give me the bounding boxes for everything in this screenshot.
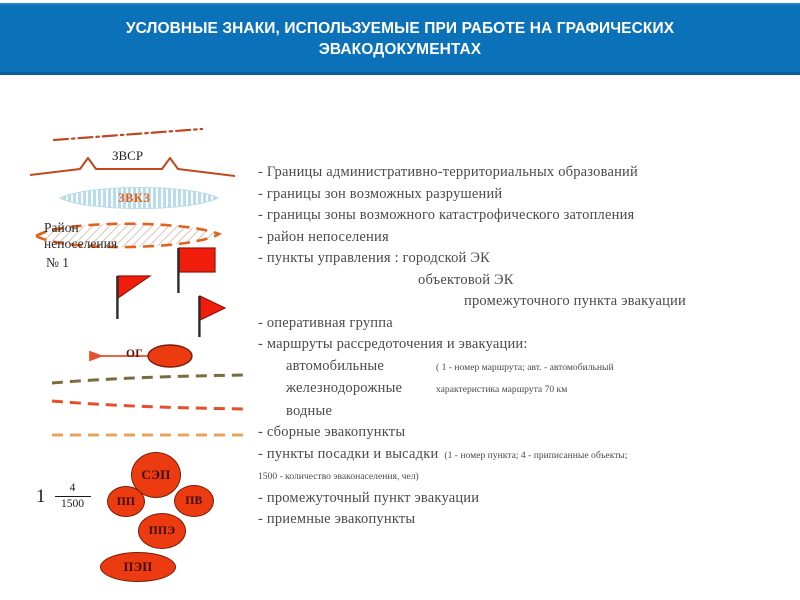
legend-note-boarding-2: 1500 - количество эваконаселения, чел): [258, 466, 798, 488]
zvkz-label: ЗВКЗ: [118, 191, 150, 206]
intermediate-point-flag-icon: [192, 293, 230, 339]
legend-item-operational-group: - оперативная группа: [258, 313, 798, 335]
page-title: УСЛОВНЫЕ ЗНАКИ, ИСПОЛЬЗУЕМЫЕ ПРИ РАБОТЕ …: [70, 18, 730, 60]
legend-item-intermediate-point: промежуточного пункта эвакуации: [258, 291, 798, 313]
legend-item-no-settlement: - район непоселения: [258, 227, 798, 249]
legend-item-boarding-points: - пункты посадки и высадки: [258, 444, 438, 466]
legend-item-control-points: - пункты управления : городской ЭК: [258, 248, 798, 270]
legend-row-boarding-points: - пункты посадки и высадки (1 - номер пу…: [258, 444, 798, 467]
rayon-number-label: № 1: [46, 255, 69, 271]
legend-item-flood-zone: - границы зоны возможного катастрофическ…: [258, 205, 798, 227]
symbol-column: ЗВСР ЗВКЗ: [0, 95, 258, 600]
legend-row-auto-route: автомобильные ( 1 - номер маршрута; авт.…: [258, 356, 798, 379]
fraction-numerator: 4: [70, 483, 76, 496]
evac-point-pv: ПВ: [174, 485, 214, 517]
fraction-denominator: 1500: [61, 497, 84, 511]
legend-note-boarding-1: (1 - номер пункта; 4 - приписанные объек…: [438, 445, 627, 467]
legend-note-route-1: ( 1 - номер маршрута; авт. - автомобильн…: [436, 357, 614, 379]
rayon-label-line1: Район: [44, 220, 79, 236]
legend-item-destruction-zones: - границы зон возможных разрушений: [258, 184, 798, 206]
city-ek-flag-icon: [170, 245, 218, 295]
fraction-whole-number: 1: [36, 486, 46, 508]
legend-item-admin-borders: - Границы административно-территориальны…: [258, 162, 798, 184]
og-label: ОГ: [126, 348, 143, 360]
evac-point-pep: ПЭП: [100, 552, 176, 582]
header-banner: УСЛОВНЫЕ ЗНАКИ, ИСПОЛЬЗУЕМЫЕ ПРИ РАБОТЕ …: [0, 3, 800, 75]
route-water-line: [50, 428, 246, 442]
fraction-stack: 4 1500: [55, 483, 91, 510]
route-rail-line: [50, 397, 246, 411]
legend-column: - Границы административно-территориальны…: [258, 162, 798, 531]
legend-item-assembly-points: - сборные эвакопункты: [258, 422, 798, 444]
legend-item-reception-points: - приемные эвакопункты: [258, 509, 798, 531]
legend-item-water-routes: водные: [258, 401, 798, 423]
legend-item-auto-routes: автомобильные: [258, 356, 436, 378]
evac-point-fraction-notation: 1 4 1500: [36, 483, 91, 510]
destruction-zone-symbol: [30, 153, 235, 181]
object-ek-flag-icon: [110, 273, 152, 321]
legend-row-rail-route: железнодорожные характеристика маршрута …: [258, 378, 798, 401]
evac-point-ppe: ППЭ: [138, 513, 186, 549]
legend-note-route-2: характеристика маршрута 70 км: [436, 379, 567, 401]
legend-item-routes-header: - маршруты рассредоточения и эвакуации:: [258, 334, 798, 356]
rayon-label-line2: непоселения: [44, 236, 117, 252]
admin-border-symbol: [52, 127, 204, 143]
evac-point-pp: ПП: [107, 486, 145, 517]
legend-item-rail-routes: железнодорожные: [258, 378, 436, 400]
legend-item-intermediate-evac-point: - промежуточный пункт эвакуации: [258, 488, 798, 510]
route-auto-line: [50, 373, 246, 387]
legend-item-object-ek: объектовой ЭК: [258, 270, 798, 292]
